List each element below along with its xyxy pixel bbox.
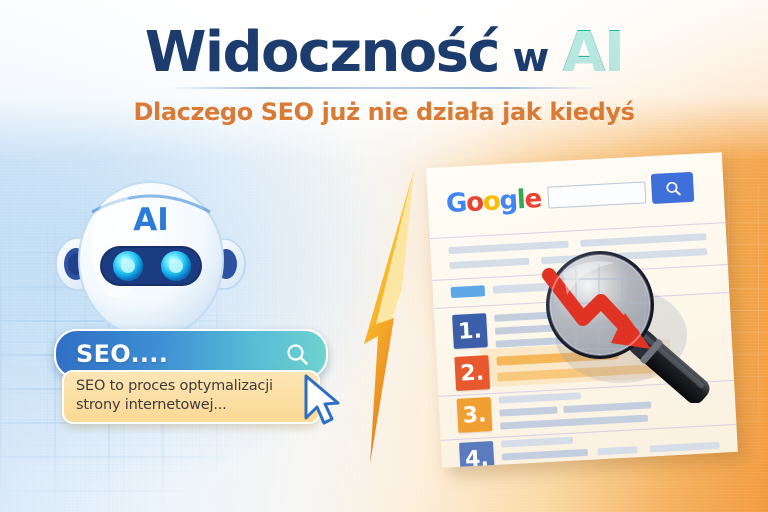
google-logo-letter: o [465,187,483,218]
search-icon [664,179,682,197]
placeholder-bar [501,437,573,448]
result-rank-badge: 1. [452,313,488,349]
ai-answer-card: SEO to proces optymalizacji strony inter… [62,370,320,424]
search-icon[interactable] [285,342,309,366]
placeholder-bar [502,449,588,461]
title-accent: AI [562,20,623,85]
google-search-input[interactable] [547,181,646,208]
result-rank-badge: 4. [459,441,495,468]
google-logo-letter: e [524,184,542,215]
ai-answer-line-2: strony internetowej... [76,396,306,415]
google-logo-letter: g [499,185,518,216]
placeholder-bar-accent [451,285,486,298]
title-connector: w [499,35,562,81]
google-logo: Google [445,184,542,219]
result-rank-badge: 3. [457,397,493,433]
placeholder-bar [499,406,557,416]
robot-ai-label: AI [133,202,169,238]
result-rank-badge: 2. [454,355,490,391]
ai-search-query: SEO.... [76,340,168,368]
ai-answer-line-1: SEO to proces optymalizacji [76,377,306,396]
placeholder-bar [500,415,648,430]
mouse-pointer-icon [298,372,344,430]
page-title: Widoczność w AI [0,0,768,81]
google-logo-letter: o [482,186,500,217]
google-logo-letter: G [445,188,467,219]
title-main: Widoczność [145,20,499,85]
header: Widoczność w AI Dlaczego SEO już nie dzi… [0,0,768,126]
google-search-button[interactable] [651,172,695,204]
infographic-canvas: Widoczność w AI Dlaczego SEO już nie dzi… [0,0,768,512]
lightning-bolt-icon [362,168,434,468]
placeholder-bar [598,446,638,455]
title-divider-rule [169,87,599,89]
magnifier-icon [529,243,737,403]
ai-robot-icon: AI [56,168,246,348]
placeholder-bar [649,442,719,453]
placeholder-bar [563,401,651,413]
page-subtitle: Dlaczego SEO już nie działa jak kiedyś [0,98,768,126]
placeholder-bar [449,258,529,269]
